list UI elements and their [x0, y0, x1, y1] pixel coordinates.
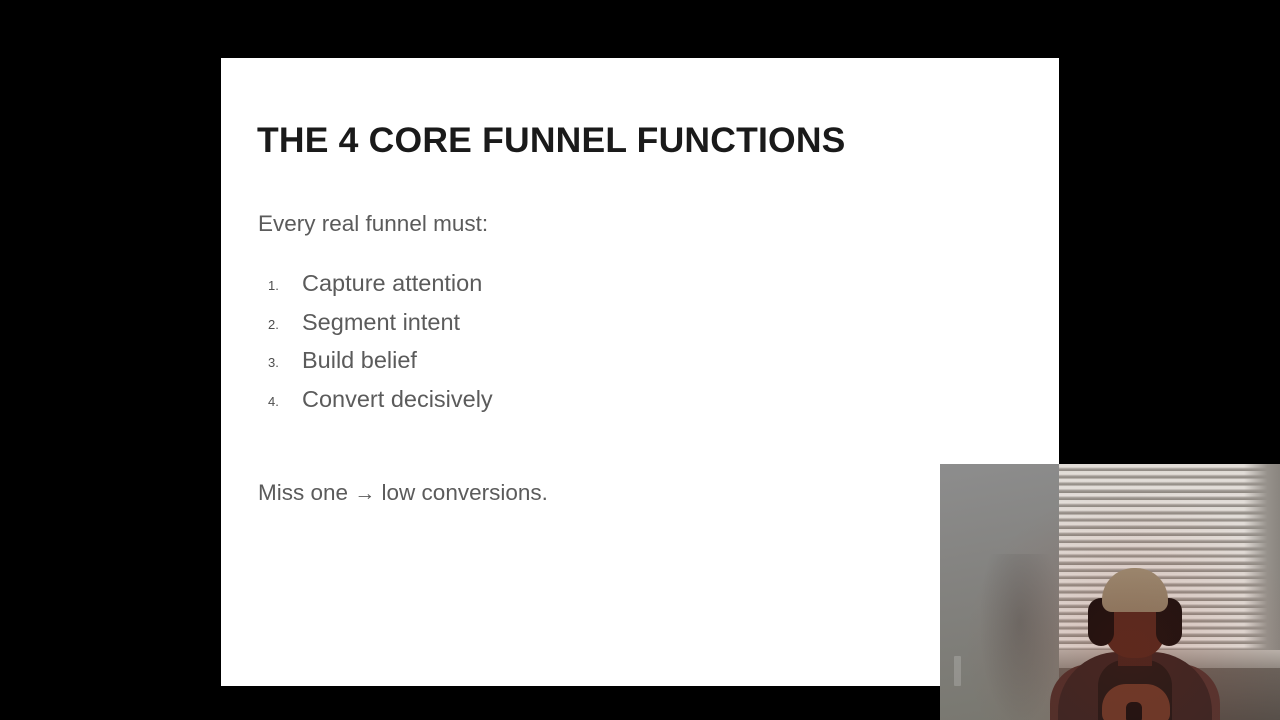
list-item-label: Convert decisively [302, 386, 493, 412]
presenter-beanie [1102, 568, 1168, 612]
webcam-wall-shadow [980, 554, 1060, 720]
list-item-label: Build belief [302, 347, 417, 373]
right-arrow-icon: → [354, 482, 375, 505]
slide-intro-text: Every real funnel must: [258, 213, 488, 236]
list-item-number: 1. [268, 279, 290, 292]
presenter-handheld-object [1126, 702, 1142, 720]
outro-text-before: Miss one [258, 480, 354, 505]
presentation-slide: THE 4 CORE FUNNEL FUNCTIONS Every real f… [221, 58, 1059, 686]
list-item-number: 3. [268, 356, 290, 369]
webcam-window-falloff [1244, 464, 1280, 654]
list-item-label: Capture attention [302, 270, 482, 296]
screen-recording-canvas: THE 4 CORE FUNNEL FUNCTIONS Every real f… [0, 0, 1280, 720]
outro-text-after: low conversions. [375, 480, 548, 505]
slide-title: THE 4 CORE FUNNEL FUNCTIONS [257, 123, 846, 159]
list-item-number: 4. [268, 395, 290, 408]
webcam-overlay[interactable] [940, 464, 1280, 720]
list-item-label: Segment intent [302, 309, 460, 335]
webcam-wall [940, 464, 1059, 720]
webcam-presenter [1050, 560, 1220, 720]
list-item-number: 2. [268, 318, 290, 331]
webcam-light-switch [954, 656, 961, 686]
slide-outro-text: Miss one → low conversions. [258, 482, 548, 505]
